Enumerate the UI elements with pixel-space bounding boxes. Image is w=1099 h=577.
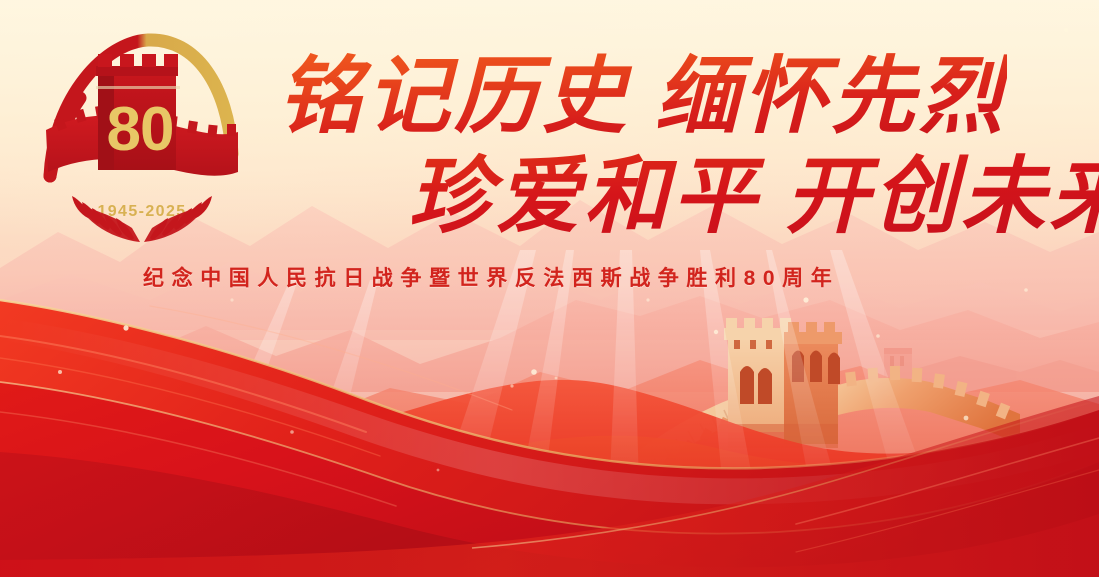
emblem-number: 80 [107,95,174,164]
anniversary-emblem: 80 1945-2025 [36,26,248,254]
commemoration-poster: 80 1945-2025 铭 [0,0,1099,577]
